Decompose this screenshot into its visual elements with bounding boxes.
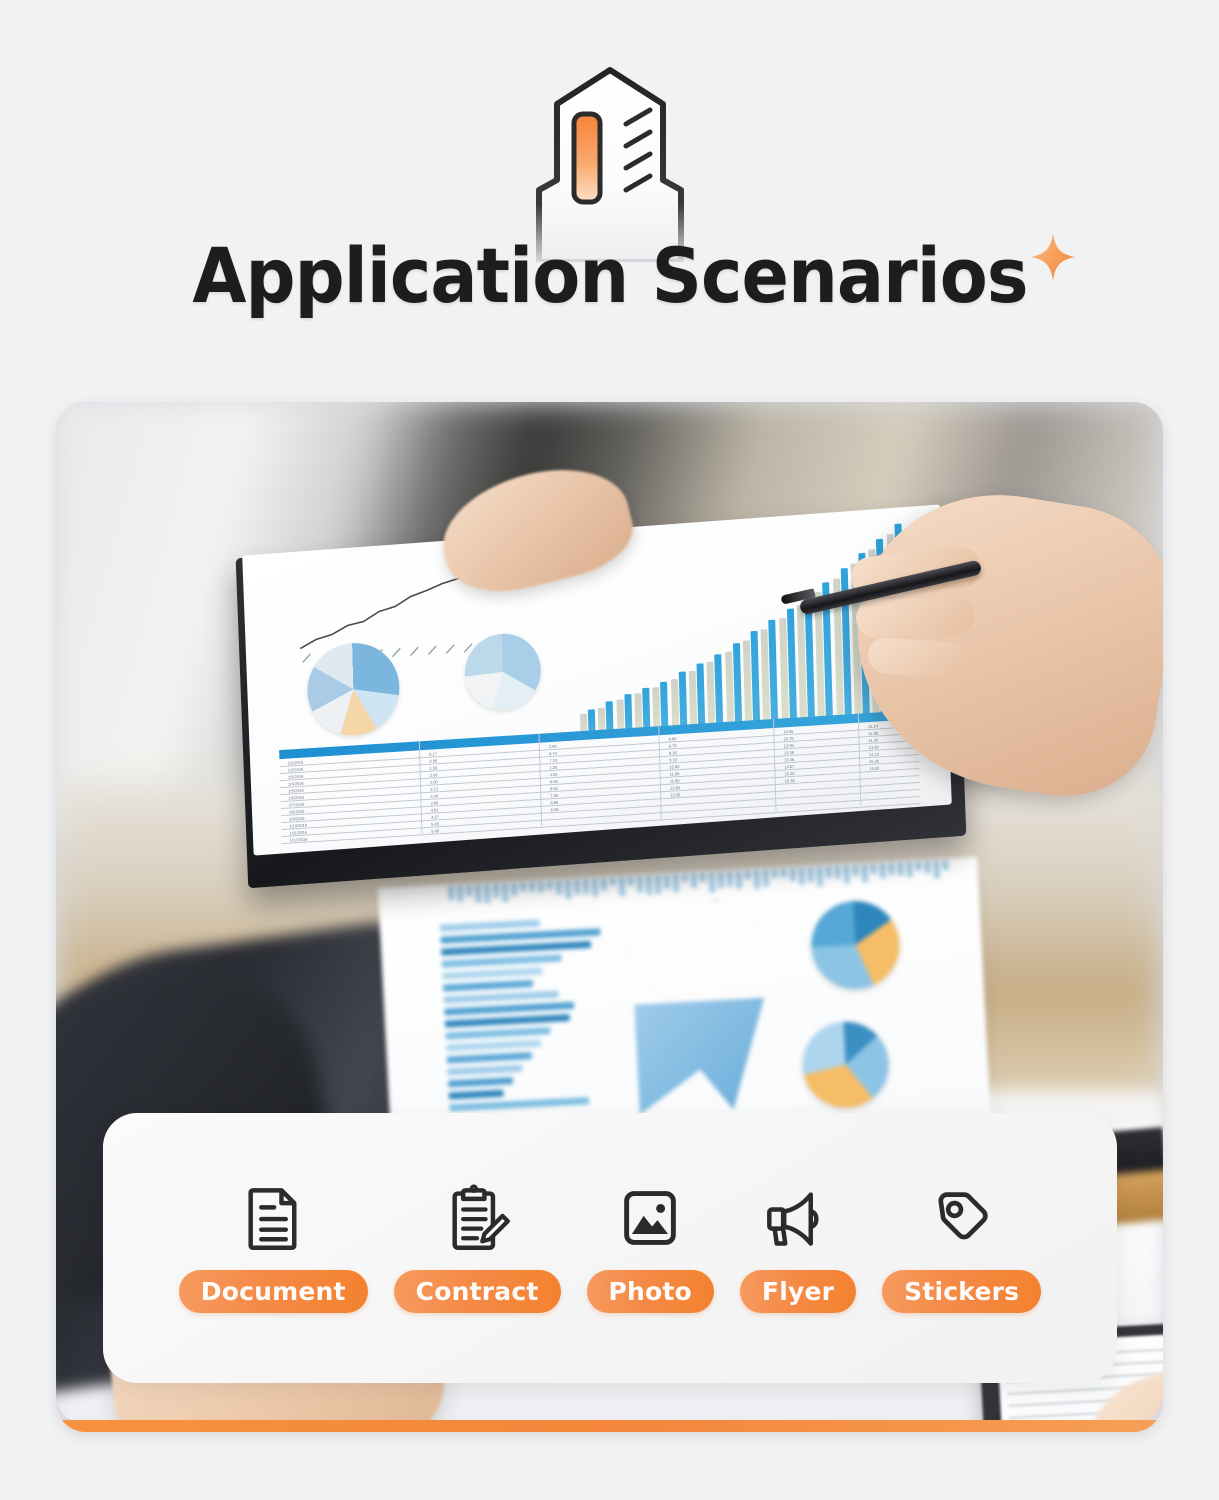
pie-chart-1 <box>809 899 901 991</box>
orange-accent-bar <box>56 1420 1163 1432</box>
categories-row: Document Contract <box>103 1113 1117 1383</box>
categories-panel: Document Contract <box>103 1113 1117 1383</box>
megaphone-icon <box>764 1184 832 1252</box>
line-sketch-chart <box>627 898 761 990</box>
finger <box>855 596 974 638</box>
sparkle-icon <box>1030 232 1076 282</box>
finger <box>867 636 973 679</box>
category-label-contract[interactable]: Contract <box>394 1270 561 1313</box>
category-contract[interactable]: Contract <box>394 1184 561 1313</box>
clipboard-pencil-icon <box>443 1184 511 1252</box>
category-photo[interactable]: Photo <box>587 1184 714 1313</box>
category-label-document[interactable]: Document <box>179 1270 368 1313</box>
funnel-chart <box>634 998 770 1115</box>
horizontal-bar-chart <box>440 915 640 1115</box>
page-title: Application Scenarios <box>192 238 1027 314</box>
price-tag-icon <box>928 1184 996 1252</box>
document-page-icon <box>239 1184 307 1252</box>
category-label-stickers[interactable]: Stickers <box>882 1270 1041 1313</box>
category-label-flyer[interactable]: Flyer <box>740 1270 856 1313</box>
category-document[interactable]: Document <box>179 1184 368 1313</box>
category-stickers[interactable]: Stickers <box>882 1184 1041 1313</box>
category-flyer[interactable]: Flyer <box>740 1184 856 1313</box>
image-photo-icon <box>616 1184 684 1252</box>
pie-chart-2 <box>800 1019 890 1109</box>
category-label-photo[interactable]: Photo <box>587 1270 714 1313</box>
page-header: Application Scenarios <box>0 0 1219 390</box>
